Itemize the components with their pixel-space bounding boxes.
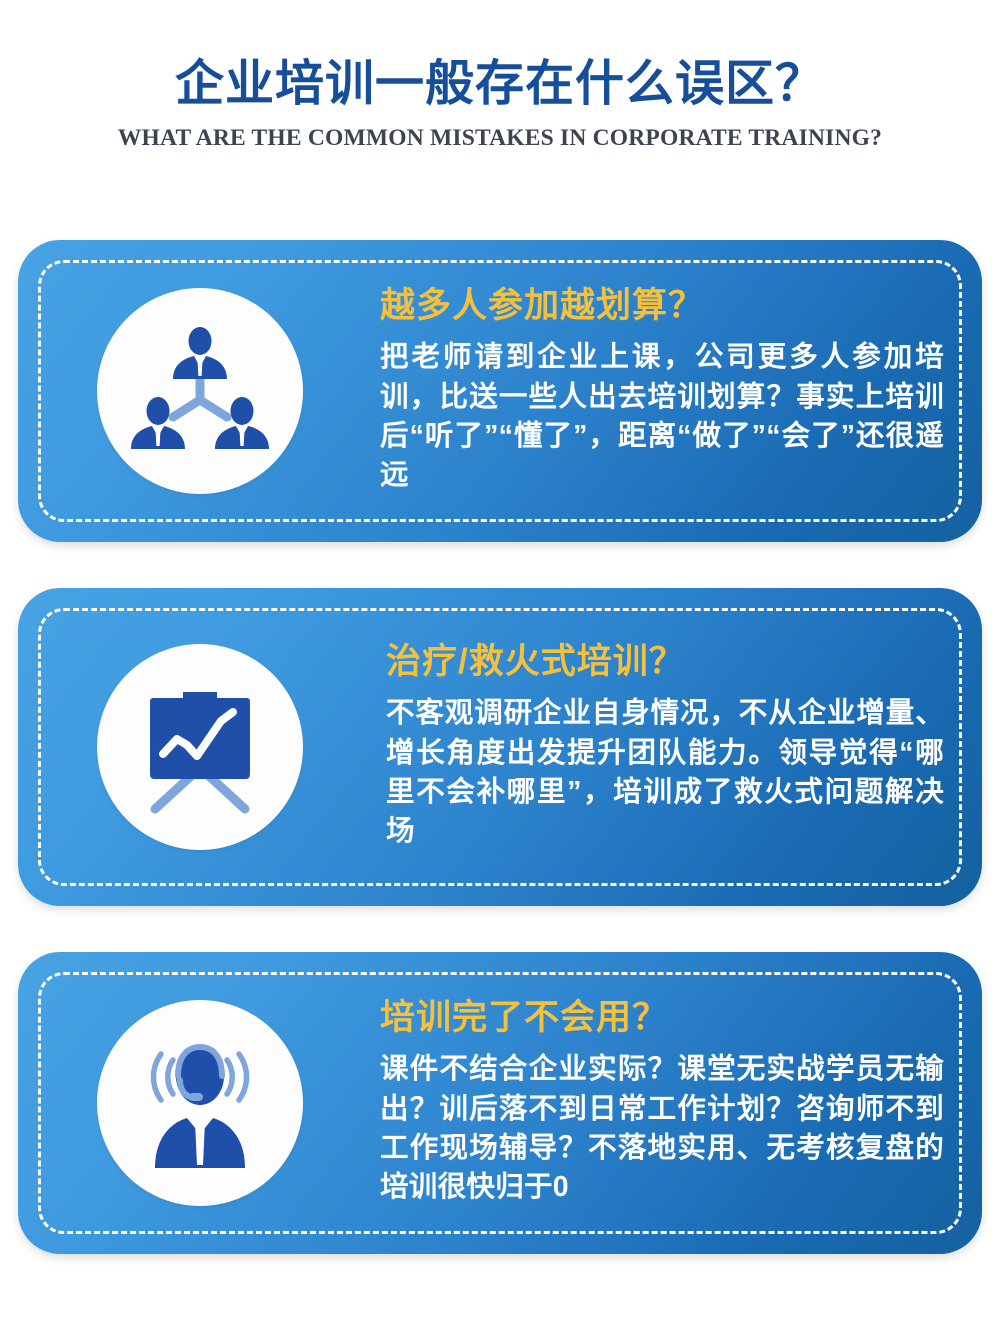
- card-icon-circle: [97, 1000, 303, 1206]
- team-network-icon: [125, 316, 275, 466]
- card-heading: 越多人参加越划算？: [380, 286, 944, 326]
- infographic-page: 企业培训一般存在什么误区？ WHAT ARE THE COMMON MISTAK…: [0, 0, 1000, 1329]
- card-text-block: 治疗/救火式培训？ 不客观调研企业自身情况，不从企业增量、增长角度出发提升团队能…: [386, 642, 944, 852]
- card-body: 把老师请到企业上课，公司更多人参加培训，比送一些人出去培训划算？事实上培训后“听…: [380, 338, 944, 495]
- card-text-block: 培训完了不会用？ 课件不结合企业实际？课堂无实战学员无输出？训后落不到日常工作计…: [380, 998, 944, 1208]
- mistake-card-2: 治疗/救火式培训？ 不客观调研企业自身情况，不从企业增量、增长角度出发提升团队能…: [18, 588, 982, 906]
- page-subtitle: WHAT ARE THE COMMON MISTAKES IN CORPORAT…: [0, 125, 1000, 152]
- card-heading: 治疗/救火式培训？: [386, 642, 944, 682]
- mistake-card-3: 培训完了不会用？ 课件不结合企业实际？课堂无实战学员无输出？训后落不到日常工作计…: [18, 952, 982, 1254]
- card-heading: 培训完了不会用？: [380, 998, 944, 1038]
- card-body: 课件不结合企业实际？课堂无实战学员无输出？训后落不到日常工作计划？咨询师不到工作…: [380, 1050, 944, 1207]
- headset-agent-icon: [125, 1028, 275, 1178]
- presentation-chart-icon: [125, 672, 275, 822]
- card-icon-circle: [97, 288, 303, 494]
- card-icon-circle: [97, 644, 303, 850]
- card-text-block: 越多人参加越划算？ 把老师请到企业上课，公司更多人参加培训，比送一些人出去培训划…: [380, 286, 944, 496]
- page-header: 企业培训一般存在什么误区？ WHAT ARE THE COMMON MISTAK…: [0, 0, 1000, 200]
- page-title: 企业培训一般存在什么误区？: [0, 58, 1000, 112]
- mistake-card-1: 越多人参加越划算？ 把老师请到企业上课，公司更多人参加培训，比送一些人出去培训划…: [18, 240, 982, 542]
- card-body: 不客观调研企业自身情况，不从企业增量、增长角度出发提升团队能力。领导觉得“哪里不…: [386, 694, 944, 851]
